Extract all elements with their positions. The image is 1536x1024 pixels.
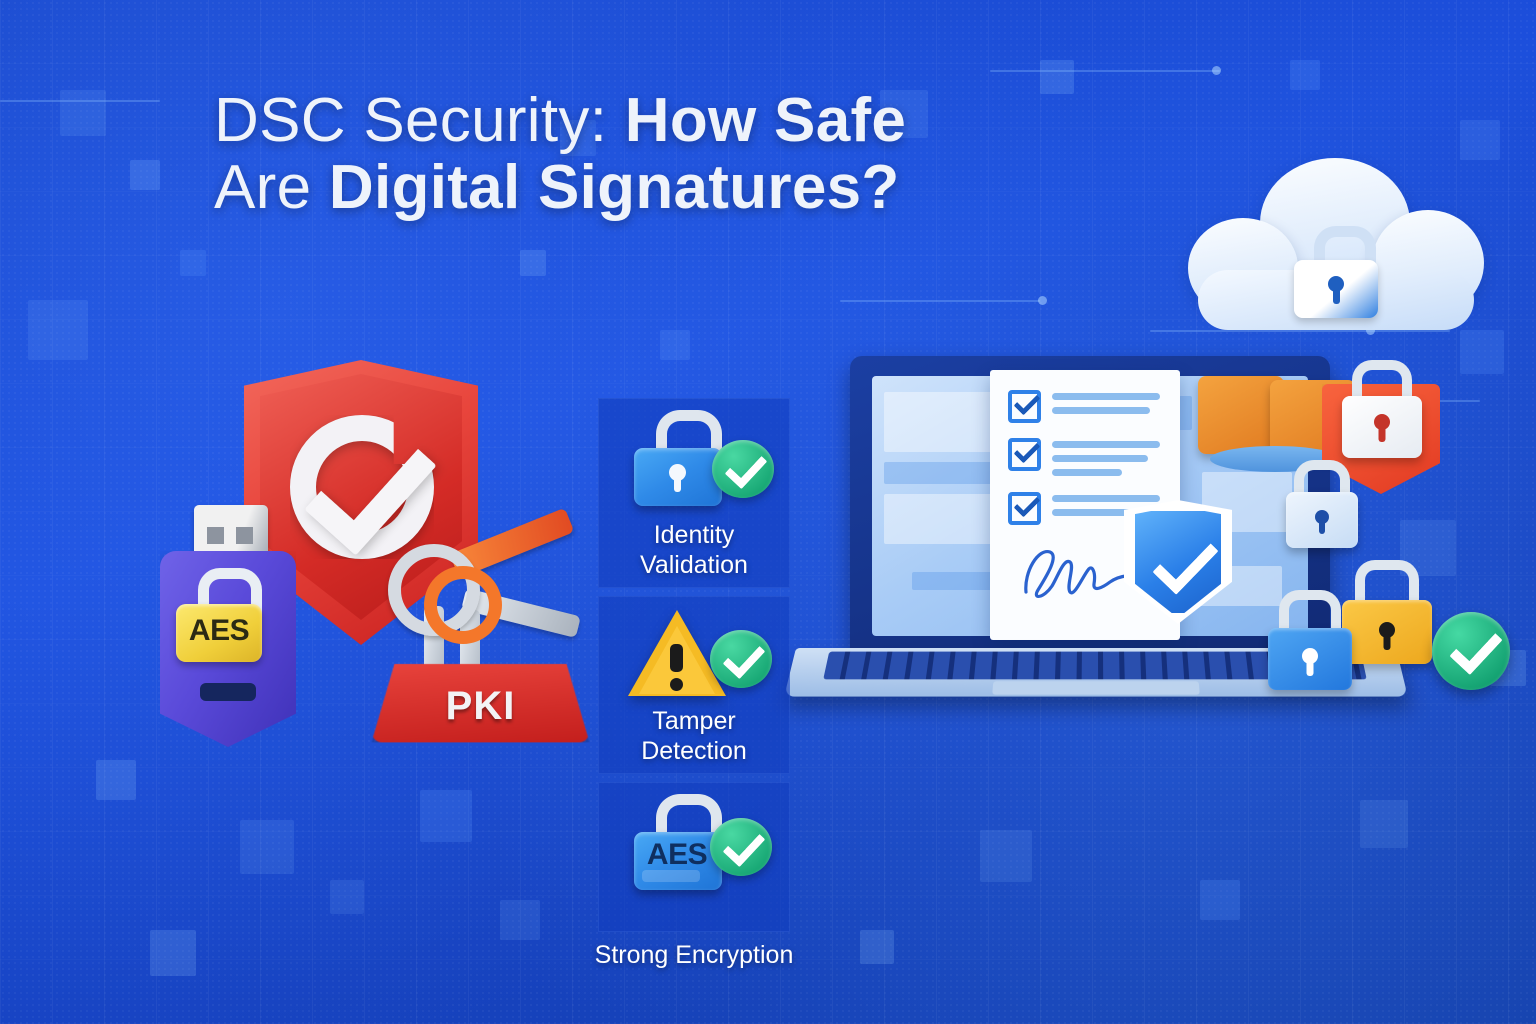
feature-card-tamper-detection[interactable]: Tamper Detection: [598, 596, 790, 774]
green-check-badge: [710, 630, 772, 688]
encryption-lock-cluster: [1256, 366, 1536, 706]
cloud-lock-illustration: [1186, 158, 1486, 348]
light-blue-padlock: [1286, 460, 1358, 556]
page-title: DSC Security: How Safe Are Digital Signa…: [214, 88, 1054, 222]
feature-card-strong-encryption[interactable]: AES Strong Encryption: [598, 782, 790, 932]
blue-padlock: [1268, 590, 1352, 700]
poster-canvas: DSC Security: How Safe Are Digital Signa…: [0, 0, 1536, 1024]
checkbox-checked: [1008, 492, 1041, 525]
checkbox-checked: [1008, 438, 1041, 471]
checkbox-checked: [1008, 390, 1041, 423]
title-line2-light: Are: [214, 153, 329, 222]
security-asset-cluster: AES PKI: [150, 350, 580, 780]
green-check-badge: [1432, 612, 1510, 690]
title-line2-bold: Digital Signatures?: [329, 153, 900, 222]
title-line1-light: DSC Security:: [214, 86, 625, 155]
pki-keys-icon: PKI: [378, 536, 583, 751]
red-padlock: [1342, 360, 1422, 464]
aes-lock-label: AES: [172, 614, 266, 648]
aes-lock-label: AES: [632, 838, 722, 872]
cloud-padlock-icon: [1294, 226, 1378, 318]
feature-card-label: Tamper Detection: [598, 707, 790, 766]
green-check-badge: [712, 440, 774, 498]
pki-label: PKI: [378, 684, 583, 729]
feature-card-label: Strong Encryption: [584, 941, 804, 971]
feature-card-identity-validation[interactable]: Identity Validation: [598, 398, 790, 588]
laptop-trackpad: [992, 681, 1200, 694]
title-line1-bold: How Safe: [625, 86, 906, 155]
padlock-check-icon: [632, 414, 724, 506]
green-check-badge: [710, 818, 772, 876]
feature-card-list: Identity Validation Tamper Detection: [598, 398, 790, 932]
aes-padlock-icon: AES: [172, 570, 266, 664]
feature-card-label: Identity Validation: [598, 521, 790, 580]
yellow-padlock: [1342, 560, 1432, 672]
